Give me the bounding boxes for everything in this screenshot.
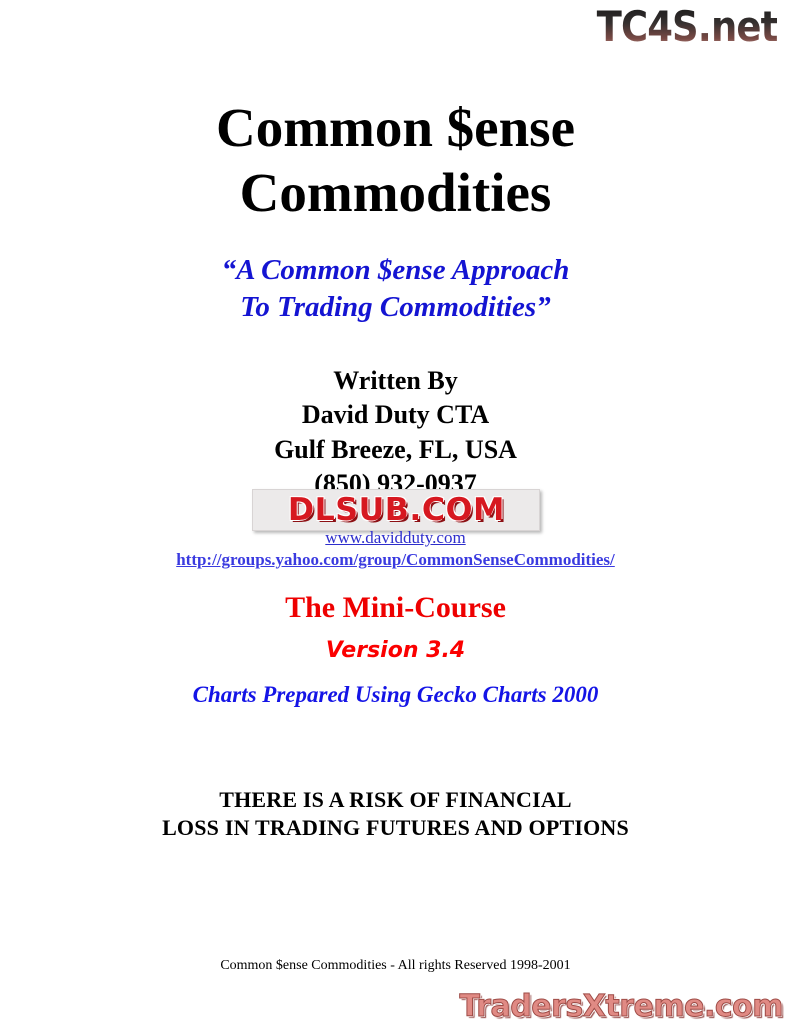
- page-title-line-1: Common $ense: [0, 96, 791, 161]
- tc4s-watermark: TC4S.net: [596, 6, 777, 48]
- footer-copyright: Common $ense Commodities - All rights Re…: [0, 958, 791, 974]
- page-title: Common $ense Commodities: [0, 96, 791, 226]
- course-title: The Mini-Course: [0, 591, 791, 625]
- version-label: Version 3.4: [0, 638, 791, 663]
- tradersxtreme-watermark: TradersXtreme.com: [460, 992, 783, 1022]
- risk-disclaimer-line-2: LOSS IN TRADING FUTURES AND OPTIONS: [0, 814, 791, 842]
- author-written-by-label: Written By: [0, 364, 791, 398]
- page-title-line-2: Commodities: [0, 161, 791, 226]
- author-location: Gulf Breeze, FL, USA: [0, 433, 791, 467]
- document-page: TC4S.net Common $ense Commodities “A Com…: [0, 0, 791, 1024]
- risk-disclaimer-line-1: THERE IS A RISK OF FINANCIAL: [0, 786, 791, 814]
- charts-credit-note: Charts Prepared Using Gecko Charts 2000: [0, 682, 791, 708]
- subtitle-line-1: “A Common $ense Approach: [0, 252, 791, 289]
- dlsub-watermark-text: DLSUB.COM: [287, 492, 504, 528]
- dlsub-watermark: DLSUB.COM: [252, 489, 540, 531]
- subtitle-line-2: To Trading Commodities”: [0, 289, 791, 326]
- author-block: Written By David Duty CTA Gulf Breeze, F…: [0, 364, 791, 501]
- yahoo-group-link[interactable]: http://groups.yahoo.com/group/CommonSens…: [0, 550, 791, 570]
- subtitle: “A Common $ense Approach To Trading Comm…: [0, 252, 791, 326]
- author-name: David Duty CTA: [0, 398, 791, 432]
- risk-disclaimer: THERE IS A RISK OF FINANCIAL LOSS IN TRA…: [0, 786, 791, 842]
- website-link[interactable]: www.davidduty.com: [0, 528, 791, 548]
